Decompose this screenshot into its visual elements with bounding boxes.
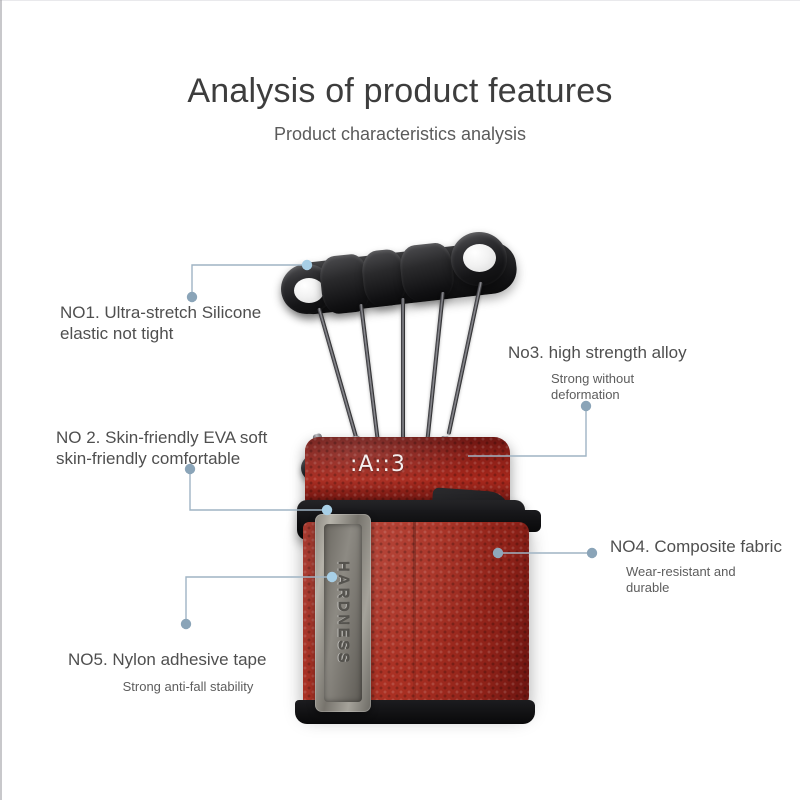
connector-no1: [192, 265, 307, 296]
dot-no1-label: [187, 292, 197, 302]
callout-no5: NO5. Nylon adhesive tape Strong anti-fal…: [68, 650, 308, 695]
dot-no1-product: [302, 260, 312, 270]
connector-no3: [468, 406, 586, 456]
dot-no5-product: [327, 572, 337, 582]
callout-no2-title: NO 2. Skin-friendly EVA soft skin-friend…: [56, 428, 346, 469]
callout-no4: NO4. Composite fabric Wear-resistant and…: [610, 537, 800, 597]
connector-no5: [186, 577, 332, 624]
dot-no5-label: [181, 619, 191, 629]
dot-no2-product: [322, 505, 332, 515]
callout-no5-title: NO5. Nylon adhesive tape: [68, 650, 308, 671]
dot-no4-product: [493, 548, 503, 558]
callout-no5-subtitle: Strong anti-fall stability: [68, 679, 308, 696]
callout-no4-subtitle: Wear-resistant and durable: [626, 564, 800, 597]
callout-no3-title: No3. high strength alloy: [508, 343, 788, 364]
connector-no2: [190, 470, 327, 510]
callout-no1: NO1. Ultra-stretch Silicone elastic not …: [60, 303, 330, 344]
callout-no3-subtitle: Strong without deformation: [551, 371, 788, 404]
callout-no1-title: NO1. Ultra-stretch Silicone elastic not …: [60, 303, 330, 344]
callout-no3: No3. high strength alloy Strong without …: [508, 343, 788, 404]
callout-no4-title: NO4. Composite fabric: [610, 537, 800, 558]
dot-no4-label: [587, 548, 597, 558]
callout-no2: NO 2. Skin-friendly EVA soft skin-friend…: [56, 428, 346, 469]
product-feature-diagram: Analysis of product features Product cha…: [0, 0, 800, 800]
